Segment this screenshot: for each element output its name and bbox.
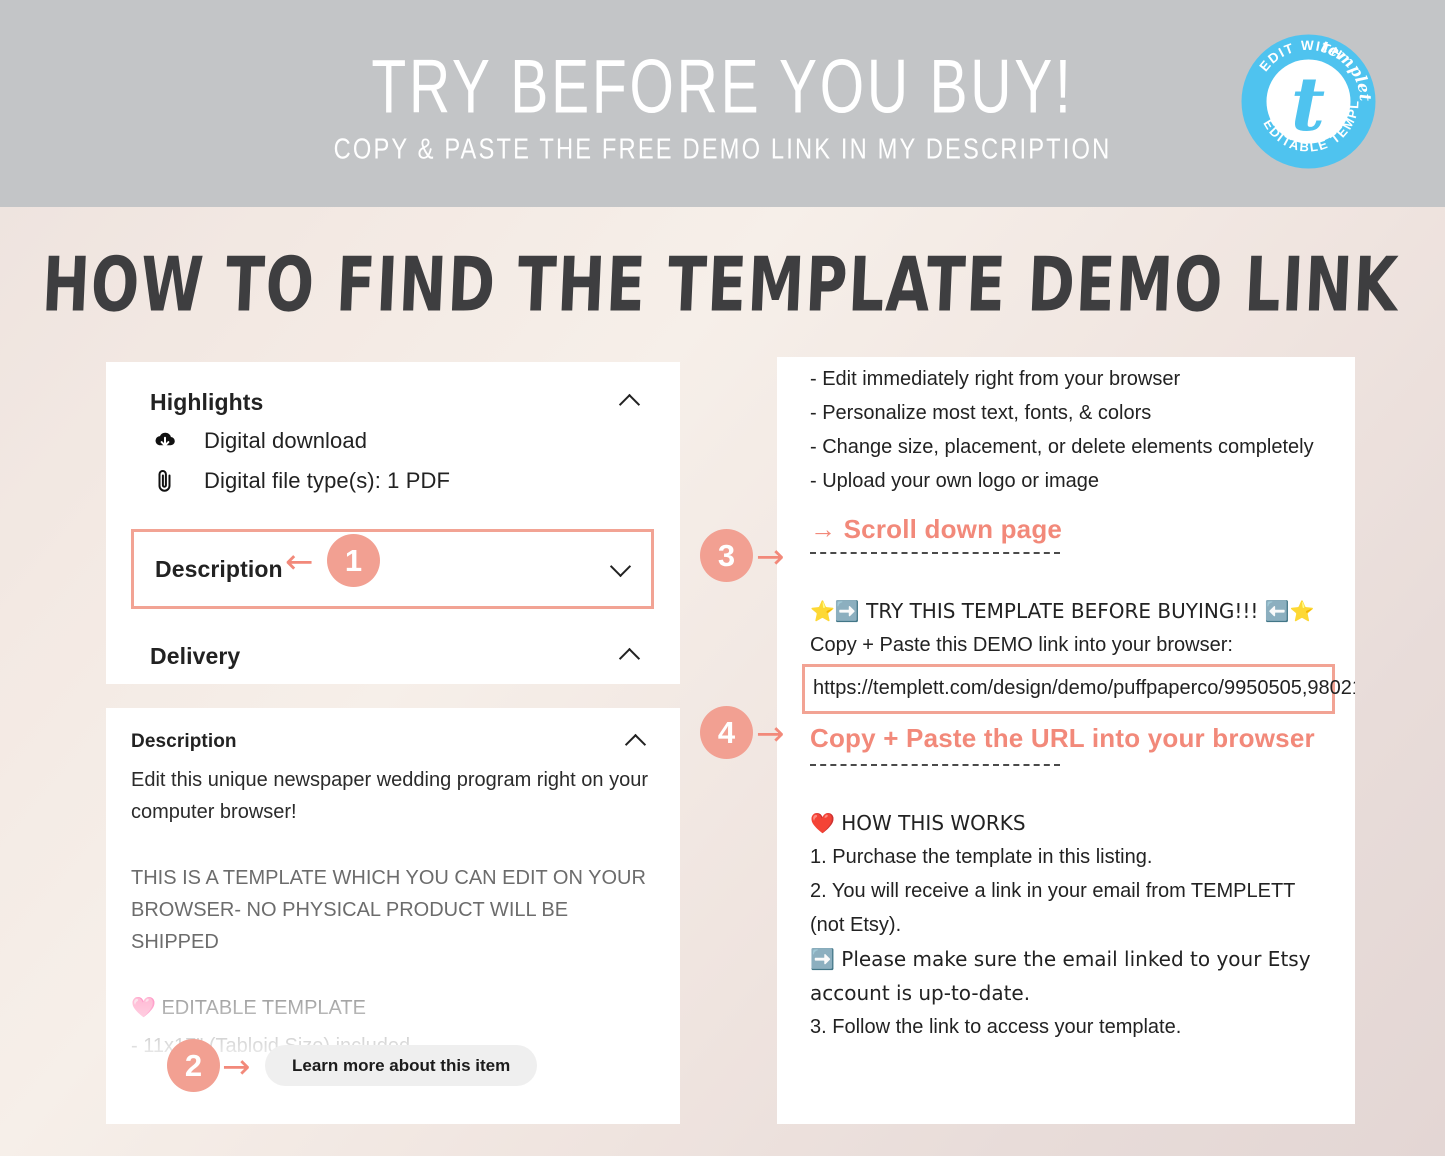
description-accordion-label: Description [155,556,283,583]
listing-bullet: - Upload your own logo or image [810,464,1335,498]
try-template-line: ⭐➡️ TRY THIS TEMPLATE BEFORE BUYING!!! ⬅… [810,594,1335,628]
highlight-item-file-type: Digital file type(s): 1 PDF [152,468,450,494]
step-marker-3: 3 [700,529,753,582]
description-section-header[interactable]: Description [131,722,646,762]
badge-center-letter: t [1291,62,1325,148]
highlights-title: Highlights [150,389,263,416]
description-title: Description [131,731,237,753]
listing-body: - Edit immediately right from your brows… [810,362,1335,1044]
how-this-works-title: ❤️ HOW THIS WORKS [810,806,1335,840]
how-this-works-step: 2. You will receive a link in your email… [810,874,1335,942]
demo-url-box[interactable]: https://templett.com/design/demo/puffpap… [802,664,1335,714]
page-title: HOW TO FIND THE TEMPLATE DEMO LINK [40,241,1402,328]
step-arrow-3: → [756,540,785,574]
description-paragraph: Edit this unique newspaper wedding progr… [131,764,651,828]
copy-url-callout: Copy + Paste the URL into your browser [810,718,1335,758]
highlights-section-header[interactable]: Highlights [150,380,640,424]
learn-more-button[interactable]: Learn more about this item [265,1045,537,1086]
how-this-works-step: 3. Follow the link to access your templa… [810,1010,1335,1044]
description-accordion-row[interactable]: Description [131,529,654,609]
highlight-item-digital-download: Digital download [152,428,367,454]
step-arrow-4: → [756,717,785,751]
header-banner: TRY BEFORE YOU BUY! COPY & PASTE THE FRE… [0,0,1445,207]
listing-bullet: - Personalize most text, fonts, & colors [810,396,1335,430]
spacer [810,766,1335,806]
chevron-up-icon[interactable] [620,646,640,666]
listing-description-card: - Edit immediately right from your brows… [777,357,1355,1124]
paperclip-icon [152,468,178,494]
scroll-down-callout: → Scroll down page [810,512,1335,546]
step-arrow-2: → [222,1050,251,1084]
delivery-accordion-row[interactable]: Delivery [150,634,640,678]
cloud-download-icon [152,428,178,454]
listing-bullet: - Edit immediately right from your brows… [810,362,1335,396]
delivery-accordion-label: Delivery [150,643,240,670]
chevron-up-icon[interactable] [626,732,646,752]
step-marker-2: 2 [167,1039,220,1092]
highlight-label: Digital download [204,428,367,454]
how-this-works-step: ➡️ Please make sure the email linked to … [810,942,1335,1010]
highlight-label: Digital file type(s): 1 PDF [204,468,450,494]
step-marker-4: 4 [700,706,753,759]
description-paragraph: 🩷 EDITABLE TEMPLATE [131,992,651,1024]
description-paragraph: THIS IS A TEMPLATE WHICH YOU CAN EDIT ON… [131,862,651,958]
header-subtitle: COPY & PASTE THE FREE DEMO LINK IN MY DE… [51,134,1395,166]
step-marker-1: 1 [327,534,380,587]
how-this-works-step: 1. Purchase the template in this listing… [810,840,1335,874]
demo-url-text: https://templett.com/design/demo/puffpap… [813,671,1324,705]
header-title: TRY BEFORE YOU BUY! [58,44,1387,131]
chevron-up-icon[interactable] [620,392,640,412]
copy-paste-instruction: Copy + Paste this DEMO link into your br… [810,628,1335,662]
chevron-down-icon[interactable] [611,559,631,579]
spacer [810,554,1335,594]
listing-bullet: - Change size, placement, or delete elem… [810,430,1335,464]
highlights-card: Highlights Digital download Digital file… [106,362,680,684]
step-arrow-1: ← [285,545,314,579]
templett-badge: EDIT WITH templett EDITABLE TEMPLATE t [1241,34,1376,169]
